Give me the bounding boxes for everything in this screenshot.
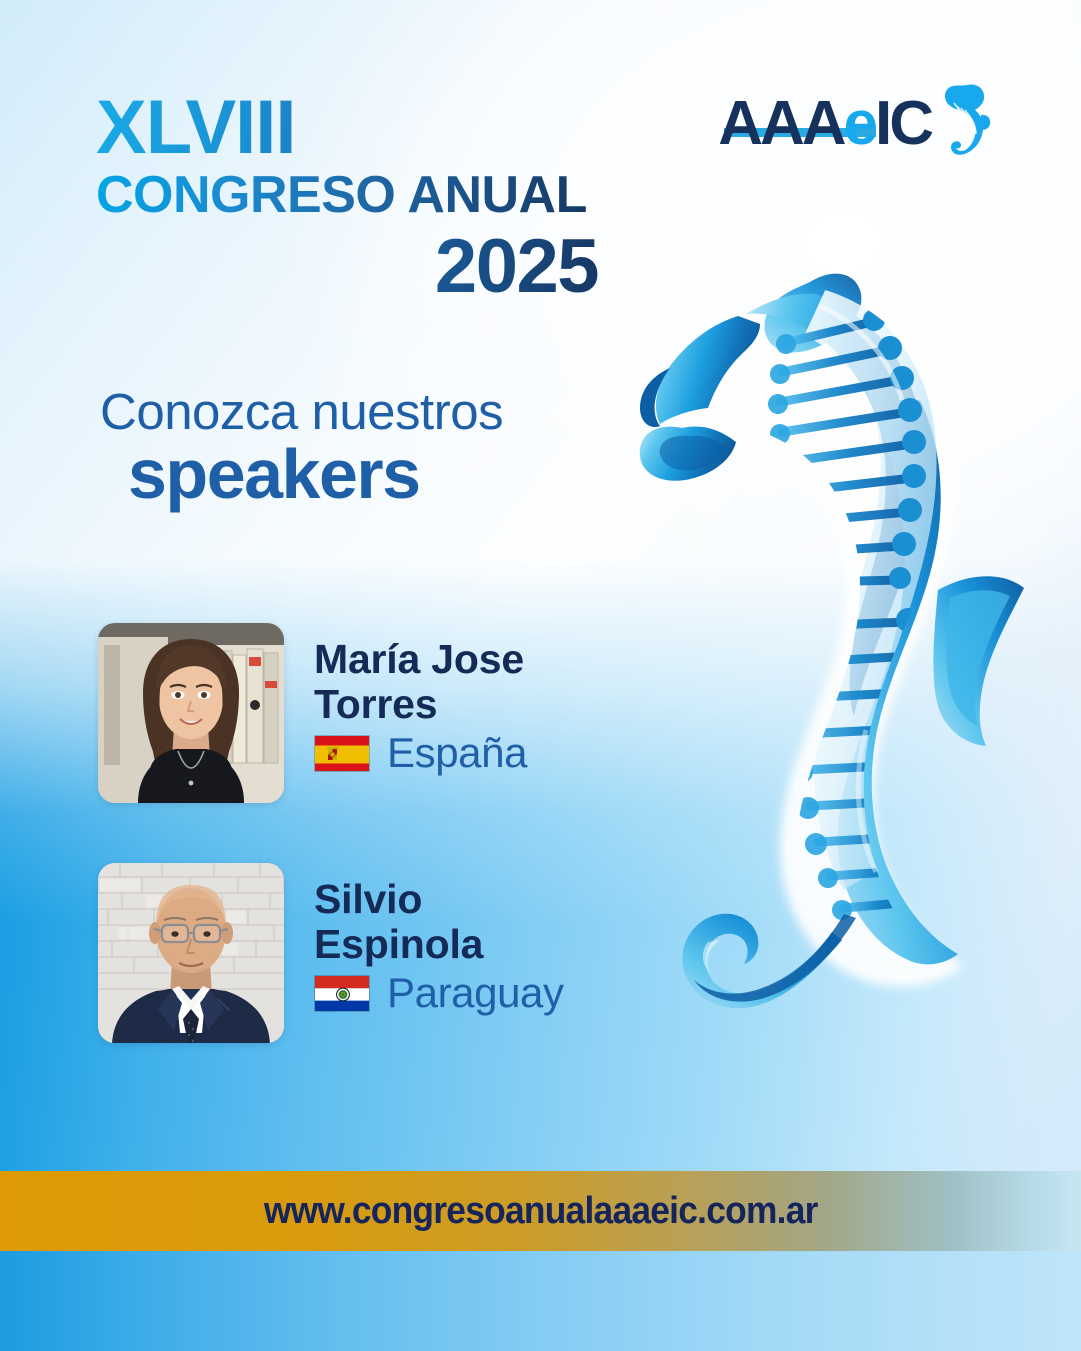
speaker-country: España [387,732,527,774]
speaker-name: María Jose Torres [314,637,527,726]
aaaeic-logo[interactable]: AAAeIC [718,88,993,160]
event-name: CONGRESO ANUAL [96,167,616,223]
photo-silvio-espinola [98,863,284,1043]
event-year: 2025 [96,229,616,305]
photo-maria-jose-torres [98,623,284,803]
speaker-photo [98,863,284,1043]
speaker-info: María Jose Torres [314,623,527,774]
logo-wordmark: AAAeIC [718,93,931,155]
logo-text-part2: IC [875,89,931,158]
heading-line-2: speakers [128,438,503,511]
flag-paraguay-icon [314,975,370,1012]
heading-line-1: Conozca nuestros [100,383,503,440]
speaker-country: Paraguay [387,972,564,1014]
speaker-card[interactable]: Silvio Espinola Paraguay [98,863,564,1043]
website-url[interactable]: www.congresoanualaaaeic.com.ar [264,1190,818,1233]
speakers-heading: Conozca nuestros speakers [100,383,503,511]
edition-numeral: XLVIII [96,92,616,165]
logo-text: AAAeIC [718,89,931,158]
footer-blue-strip [0,1251,1081,1351]
event-title-block: XLVIII CONGRESO ANUAL 2025 [96,92,616,305]
poster-canvas: XLVIII CONGRESO ANUAL 2025 AAAeIC Conozc… [0,0,1081,1351]
footer-url-bar: www.congresoanualaaaeic.com.ar [0,1171,1081,1251]
flag-spain-icon [314,735,370,772]
logo-text-e: e [844,89,875,158]
speaker-name: Silvio Espinola [314,877,564,966]
speaker-country-row: Paraguay [314,972,564,1014]
speaker-country-row: España [314,732,527,774]
logo-text-part1: AAA [718,89,843,158]
speaker-photo [98,623,284,803]
speaker-card[interactable]: María Jose Torres [98,623,527,803]
seahorse-icon [937,82,993,160]
speaker-info: Silvio Espinola Paraguay [314,863,564,1014]
